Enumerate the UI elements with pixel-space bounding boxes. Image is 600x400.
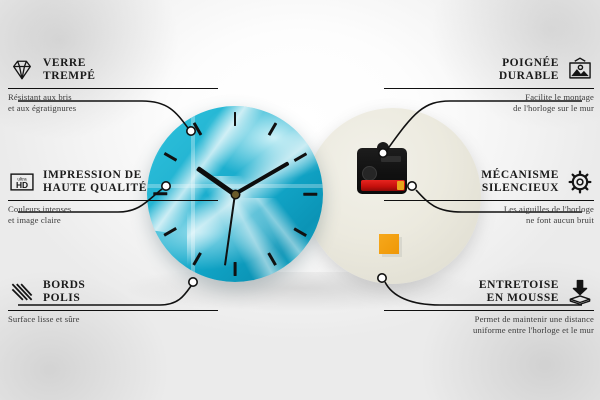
feature-desc-line2: et aux égratignures bbox=[8, 103, 218, 114]
feature-title-line1: IMPRESSION DE bbox=[43, 169, 147, 182]
feature-title-line1: BORDS bbox=[43, 279, 85, 292]
gear-icon bbox=[566, 168, 594, 196]
feature-description: Couleurs intenses et image claire bbox=[8, 204, 218, 225]
feature-divider bbox=[384, 310, 594, 312]
feature-header: ultra HD IMPRESSION DE HAUTE QUALITÉ bbox=[8, 168, 218, 196]
feature-description: Les aiguilles de l'horloge ne font aucun… bbox=[384, 204, 594, 225]
feature-title: MÉCANISME SILENCIEUX bbox=[481, 169, 559, 194]
feature-description: Résistant aux bris et aux égratignures bbox=[8, 92, 218, 113]
feature-divider bbox=[8, 200, 218, 202]
feature-desc-line1: Permet de maintenir une distance bbox=[384, 314, 594, 325]
feature-title-line2: SILENCIEUX bbox=[481, 182, 559, 195]
feature-title: POIGNÉE DURABLE bbox=[499, 57, 559, 82]
feature-entretoise-en-mousse: ENTRETOISE EN MOUSSE Permet de maintenir… bbox=[384, 278, 594, 335]
feature-title: ENTRETOISE EN MOUSSE bbox=[479, 279, 559, 304]
feature-description: Surface lisse et sûre bbox=[8, 314, 218, 325]
feature-title-line2: DURABLE bbox=[499, 70, 559, 83]
feature-desc-line1: Surface lisse et sûre bbox=[8, 314, 218, 325]
feature-divider bbox=[384, 88, 594, 90]
feature-title-line2: HAUTE QUALITÉ bbox=[43, 182, 147, 195]
feature-divider bbox=[8, 88, 218, 90]
feature-divider bbox=[8, 310, 218, 312]
diamond-icon bbox=[8, 56, 36, 84]
foam-spacer-icon bbox=[566, 278, 594, 306]
ultra-hd-icon: ultra HD bbox=[8, 168, 36, 196]
feature-title: BORDS POLIS bbox=[43, 279, 85, 304]
feature-title: IMPRESSION DE HAUTE QUALITÉ bbox=[43, 169, 147, 194]
feature-header: BORDS POLIS bbox=[8, 278, 218, 306]
feature-title: VERRE TREMPÉ bbox=[43, 57, 96, 82]
feature-header: MÉCANISME SILENCIEUX bbox=[384, 168, 594, 196]
feature-poignee-durable: POIGNÉE DURABLE Facilite le montage de l… bbox=[384, 56, 594, 113]
feature-title-line1: POIGNÉE bbox=[499, 57, 559, 70]
feature-header: ENTRETOISE EN MOUSSE bbox=[384, 278, 594, 306]
feature-title-line1: MÉCANISME bbox=[481, 169, 559, 182]
infographic-canvas: VERRE TREMPÉ Résistant aux bris et aux é… bbox=[0, 0, 600, 400]
feature-header: VERRE TREMPÉ bbox=[8, 56, 218, 84]
feature-title-line2: EN MOUSSE bbox=[479, 292, 559, 305]
feature-desc-line2: et image claire bbox=[8, 215, 218, 226]
feature-title-line1: VERRE bbox=[43, 57, 96, 70]
feature-bords-polis: BORDS POLIS Surface lisse et sûre bbox=[8, 278, 218, 325]
leader-dot-poignee bbox=[379, 149, 387, 157]
feature-desc-line1: Les aiguilles de l'horloge bbox=[384, 204, 594, 215]
feature-impression-haute-qualite: ultra HD IMPRESSION DE HAUTE QUALITÉ Cou… bbox=[8, 168, 218, 225]
feature-desc-line1: Couleurs intenses bbox=[8, 204, 218, 215]
leader-dot-verre bbox=[187, 127, 195, 135]
feature-mecanisme-silencieux: MÉCANISME SILENCIEUX bbox=[384, 168, 594, 225]
feature-header: POIGNÉE DURABLE bbox=[384, 56, 594, 84]
feature-title-line1: ENTRETOISE bbox=[479, 279, 559, 292]
feature-desc-line1: Facilite le montage bbox=[384, 92, 594, 103]
feature-title-line2: POLIS bbox=[43, 292, 85, 305]
feature-desc-line2: de l'horloge sur le mur bbox=[384, 103, 594, 114]
feature-verre-trempe: VERRE TREMPÉ Résistant aux bris et aux é… bbox=[8, 56, 218, 113]
feature-desc-line1: Résistant aux bris bbox=[8, 92, 218, 103]
svg-text:HD: HD bbox=[16, 180, 28, 190]
feature-description: Facilite le montage de l'horloge sur le … bbox=[384, 92, 594, 113]
feature-divider bbox=[384, 200, 594, 202]
polished-edges-icon bbox=[8, 278, 36, 306]
feature-title-line2: TREMPÉ bbox=[43, 70, 96, 83]
feature-desc-line2: ne font aucun bruit bbox=[384, 215, 594, 226]
picture-hanger-icon bbox=[566, 56, 594, 84]
feature-description: Permet de maintenir une distance uniform… bbox=[384, 314, 594, 335]
feature-desc-line2: uniforme entre l'horloge et le mur bbox=[384, 325, 594, 336]
